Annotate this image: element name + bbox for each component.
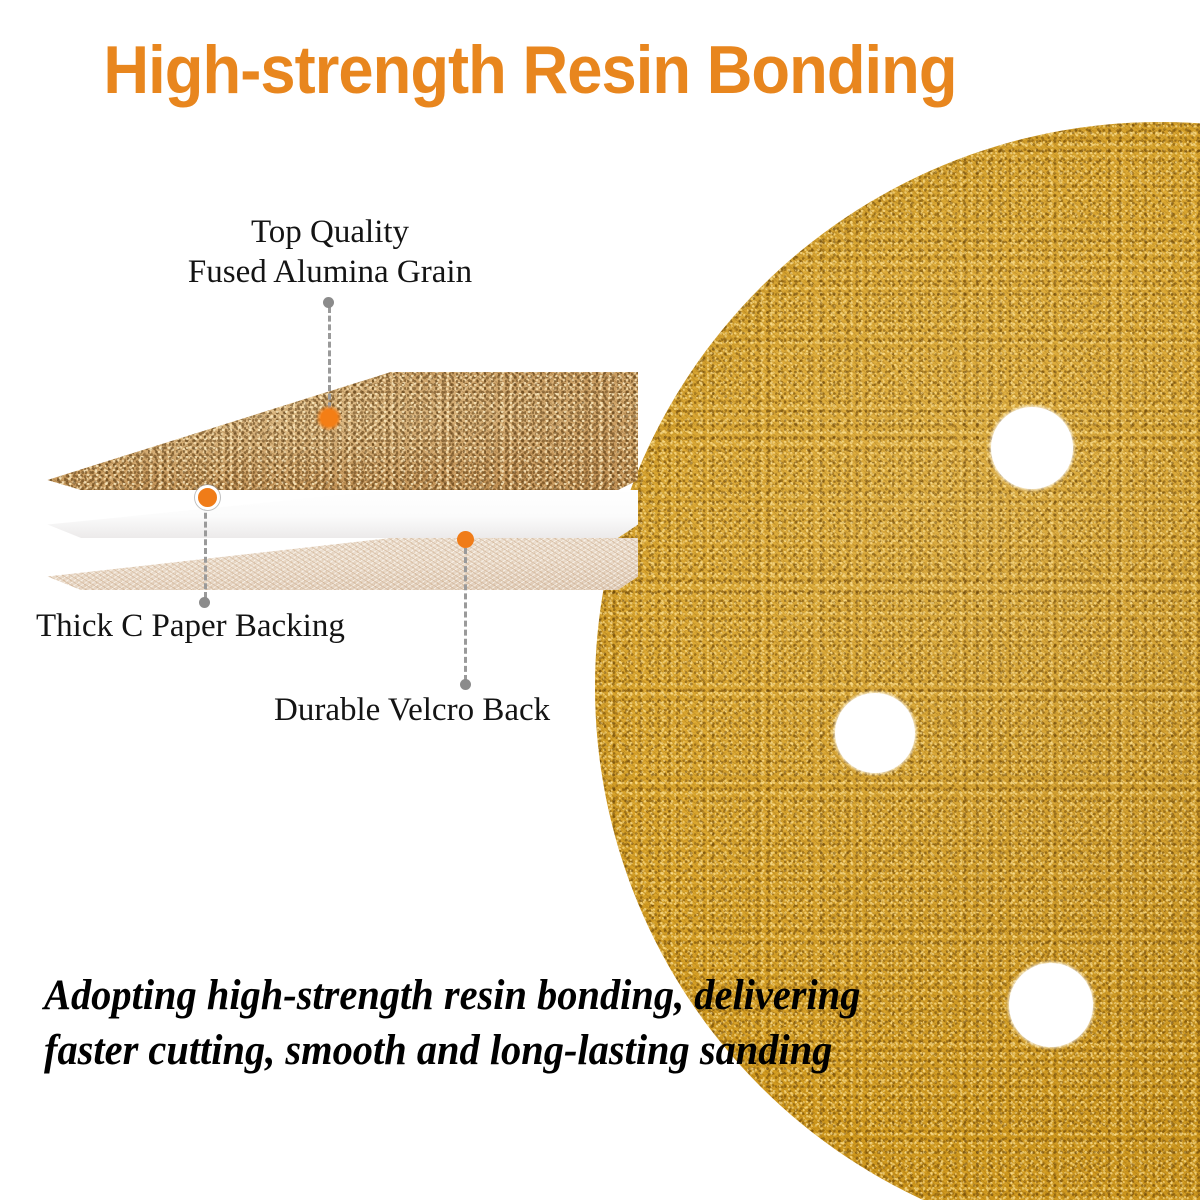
callout-grain-anchor-dot [323,297,334,308]
infographic-canvas: High-strength Resin Bonding Top Quality … [0,0,1200,1200]
callout-line-1: Top Quality [0,212,660,252]
abrasive-grain-layer-face [28,372,638,490]
bottom-caption: Adopting high-strength resin bonding, de… [44,968,984,1078]
disc-dust-hole [991,407,1073,489]
paper-backing-layer-face [28,490,638,538]
page-title: High-strength Resin Bonding [37,36,1023,104]
callout-grain-leader-line [328,307,331,417]
callout-velcro-anchor-dot [460,679,471,690]
abrasive-grain-texture [28,372,638,490]
callout-paper-target-dot [195,485,220,510]
callout-velcro-leader-line [464,548,467,681]
callout-grain-target-dot [316,405,342,431]
paper-backing-layer [28,490,638,538]
disc-dust-hole [835,693,915,773]
callout-top-quality-fused-alumina-grain: Top Quality Fused Alumina Grain [0,212,660,293]
callout-velcro-target-dot [457,531,474,548]
velcro-backing-layer-face [28,538,638,590]
abrasive-grain-layer [28,372,638,490]
exploded-layer-diagram [28,372,638,587]
caption-line-1: Adopting high-strength resin bonding, de… [44,968,984,1023]
callout-thick-c-paper-backing: Thick C Paper Backing [36,606,345,646]
callout-paper-leader-line [204,504,207,598]
callout-durable-velcro-back: Durable Velcro Back [274,690,550,730]
caption-line-2: faster cutting, smooth and long-lasting … [44,1023,984,1078]
velcro-backing-layer [28,538,638,590]
disc-dust-hole [1009,963,1093,1047]
velcro-fiber-texture [28,538,638,590]
callout-line-2: Fused Alumina Grain [0,252,660,292]
